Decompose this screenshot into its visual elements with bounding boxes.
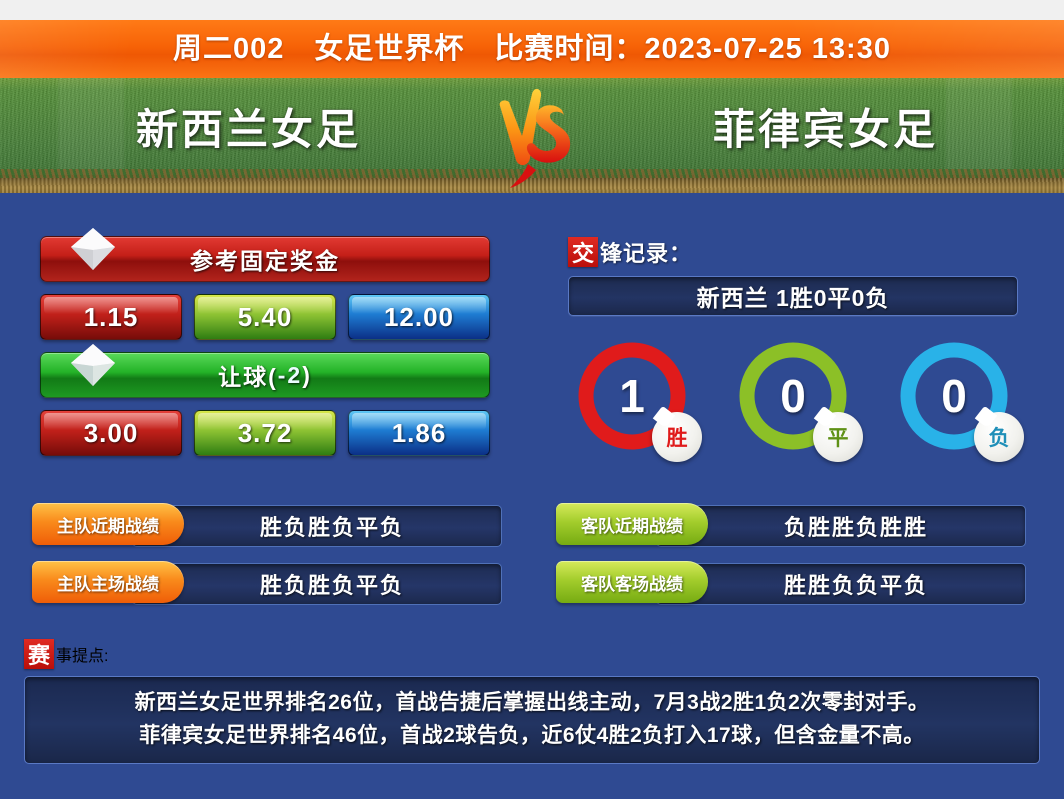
h2h-rings: 1 胜 0 平 0 负 bbox=[568, 338, 1018, 454]
h2h-win-label: 胜 bbox=[652, 412, 702, 462]
home-home-form-tab: 主队主场战绩 bbox=[32, 561, 184, 603]
handicap-value: -2 bbox=[278, 362, 302, 389]
h2h-ring-win: 1 胜 bbox=[574, 338, 690, 454]
handicap-odd-win[interactable]: 3.00 bbox=[40, 410, 182, 456]
analysis-title-rest: 事提点: bbox=[56, 642, 108, 666]
home-home-form-track: 胜负胜负平负 bbox=[132, 563, 502, 605]
home-recent-form-track: 胜负胜负平负 bbox=[132, 505, 502, 547]
away-away-form-value: 胜胜负负平负 bbox=[754, 568, 928, 600]
home-recent-form-value: 胜负胜负平负 bbox=[230, 510, 404, 542]
h2h-title-rest: 锋记录： bbox=[600, 236, 692, 268]
vs-flame-icon bbox=[484, 84, 588, 194]
analysis-box: 新西兰女足世界排名26位，首战告捷后掌握出线主动，7月3战2胜1负2次零封对手。… bbox=[24, 676, 1040, 764]
away-recent-form-row: 负胜胜负胜胜 客队近期战绩 bbox=[556, 505, 1026, 545]
h2h-lose-label: 负 bbox=[974, 412, 1024, 462]
handicap-suffix: ) bbox=[302, 362, 312, 389]
analysis-panel: 赛 事提点: 新西兰女足世界排名26位，首战告捷后掌握出线主动，7月3战2胜1负… bbox=[24, 638, 1040, 764]
h2h-title: 交 锋记录： bbox=[568, 236, 1018, 268]
h2h-draw-label: 平 bbox=[813, 412, 863, 462]
fixed-odds-title-bar: 参考固定奖金 bbox=[40, 236, 490, 282]
analysis-title: 赛 事提点: bbox=[24, 638, 1040, 670]
away-recent-form-tab: 客队近期战绩 bbox=[556, 503, 708, 545]
match-header-text: 周二002 女足世界杯 比赛时间：2023-07-25 13:30 bbox=[0, 20, 1064, 78]
analysis-title-badge: 赛 bbox=[24, 639, 54, 669]
home-home-form-row: 胜负胜负平负 主队主场战绩 bbox=[32, 563, 502, 603]
fixed-odd-win[interactable]: 1.15 bbox=[40, 294, 182, 340]
away-recent-form-value: 负胜胜负胜胜 bbox=[754, 510, 928, 542]
h2h-ring-draw: 0 平 bbox=[735, 338, 851, 454]
fixed-odd-draw[interactable]: 5.40 bbox=[194, 294, 336, 340]
handicap-odd-lose[interactable]: 1.86 bbox=[348, 410, 490, 456]
analysis-line-home: 新西兰女足世界排名26位，首战告捷后掌握出线主动，7月3战2胜1负2次零封对手。 bbox=[35, 686, 1029, 719]
home-team-name: 新西兰女足 bbox=[136, 96, 361, 157]
home-form-group: 胜负胜负平负 主队近期战绩 胜负胜负平负 主队主场战绩 bbox=[32, 505, 502, 621]
home-home-form-value: 胜负胜负平负 bbox=[230, 568, 404, 600]
away-away-form-row: 胜胜负负平负 客队客场战绩 bbox=[556, 563, 1026, 603]
top-white-cap bbox=[0, 0, 1064, 20]
handicap-odd-draw[interactable]: 3.72 bbox=[194, 410, 336, 456]
h2h-summary: 新西兰 1胜0平0负 bbox=[568, 276, 1018, 316]
away-team-name: 菲律宾女足 bbox=[713, 96, 938, 157]
match-preview-page: 周二002 女足世界杯 比赛时间：2023-07-25 13:30 新西兰女足 … bbox=[0, 0, 1064, 799]
fixed-odd-lose[interactable]: 12.00 bbox=[348, 294, 490, 340]
home-recent-form-tab: 主队近期战绩 bbox=[32, 503, 184, 545]
handicap-prefix: 让球( bbox=[218, 358, 278, 392]
odds-panel: 参考固定奖金 1.15 5.40 12.00 让球(-2) 3.00 3.72 … bbox=[40, 236, 490, 468]
h2h-panel: 交 锋记录： 新西兰 1胜0平0负 1 胜 0 平 bbox=[568, 236, 1018, 454]
h2h-ring-lose: 0 负 bbox=[896, 338, 1012, 454]
fixed-odds-row: 1.15 5.40 12.00 bbox=[40, 294, 490, 340]
analysis-line-away: 菲律宾女足世界排名46位，首战2球告负，近6仗4胜2负打入17球，但含金量不高。 bbox=[35, 719, 1029, 752]
away-recent-form-track: 负胜胜负胜胜 bbox=[656, 505, 1026, 547]
away-away-form-track: 胜胜负负平负 bbox=[656, 563, 1026, 605]
handicap-title-bar: 让球(-2) bbox=[40, 352, 490, 398]
handicap-odds-row: 3.00 3.72 1.86 bbox=[40, 410, 490, 456]
away-form-group: 负胜胜负胜胜 客队近期战绩 胜胜负负平负 客队客场战绩 bbox=[556, 505, 1026, 621]
fixed-odds-title: 参考固定奖金 bbox=[41, 237, 489, 281]
away-away-form-tab: 客队客场战绩 bbox=[556, 561, 708, 603]
match-header-bar: 周二002 女足世界杯 比赛时间：2023-07-25 13:30 bbox=[0, 20, 1064, 78]
handicap-title: 让球(-2) bbox=[41, 353, 489, 397]
h2h-title-badge: 交 bbox=[568, 237, 598, 267]
home-recent-form-row: 胜负胜负平负 主队近期战绩 bbox=[32, 505, 502, 545]
